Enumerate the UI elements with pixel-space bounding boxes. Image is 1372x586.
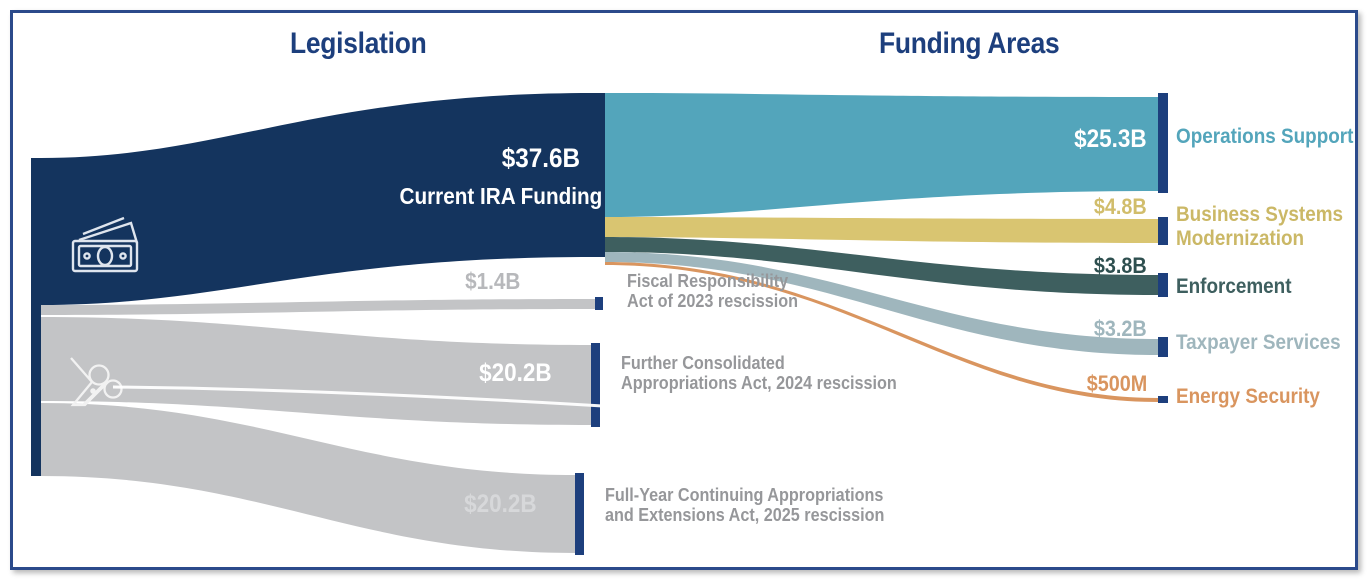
enf-value: $3.8B — [1094, 253, 1147, 279]
fcaa2024-node-bar[interactable] — [591, 343, 600, 427]
bsm-node-bar[interactable] — [1158, 217, 1168, 245]
flow-ira-to-ops[interactable] — [605, 93, 1158, 217]
ira-label: Current IRA Funding — [399, 183, 602, 210]
fycaea2025-label-line1: Full-Year Continuing Appropriations — [605, 485, 884, 505]
fra2023-label: Fiscal Responsibility Act of 2023 rescis… — [627, 271, 798, 311]
flow-total-to-fycaea2025[interactable] — [41, 403, 575, 553]
fcaa2024-label-line2: Appropriations Act, 2024 rescission — [621, 373, 897, 393]
tax-node-bar[interactable] — [1158, 337, 1168, 357]
energy-node-bar[interactable] — [1158, 396, 1168, 403]
tax-value: $3.2B — [1094, 316, 1147, 342]
fycaea2025-label: Full-Year Continuing Appropriations and … — [605, 485, 884, 525]
energy-label: Energy Security — [1176, 385, 1320, 409]
bsm-label-line2: Modernization — [1176, 227, 1343, 251]
fra2023-label-line1: Fiscal Responsibility — [627, 271, 798, 291]
fra2023-label-line2: Act of 2023 rescission — [627, 291, 798, 311]
bsm-label-line1: Business Systems — [1176, 203, 1343, 227]
tax-label: Taxpayer Services — [1176, 331, 1341, 355]
fra2023-node-bar[interactable] — [595, 297, 603, 310]
bsm-label: Business Systems Modernization — [1176, 203, 1343, 250]
diagram-frame: Legislation Funding Areas $37.6B Current… — [10, 10, 1358, 570]
ops-node-bar[interactable] — [1158, 93, 1168, 193]
ops-label: Operations Support — [1176, 125, 1353, 149]
fycaea2025-node-bar[interactable] — [575, 473, 584, 555]
sankey-stage: Legislation Funding Areas $37.6B Current… — [13, 13, 1355, 567]
energy-value: $500M — [1086, 371, 1147, 397]
enf-node-bar[interactable] — [1158, 273, 1168, 297]
bsm-value: $4.8B — [1094, 194, 1147, 220]
fcaa2024-label: Further Consolidated Appropriations Act,… — [621, 353, 897, 393]
fycaea2025-value: $20.2B — [464, 490, 537, 519]
ira-node-bar[interactable] — [593, 93, 605, 257]
ira-value: $37.6B — [502, 143, 580, 174]
source-node-bar[interactable] — [31, 158, 41, 476]
fcaa2024-value: $20.2B — [479, 359, 552, 388]
ops-value: $25.3B — [1074, 125, 1147, 154]
enf-label: Enforcement — [1176, 275, 1292, 299]
fycaea2025-label-line2: and Extensions Act, 2025 rescission — [605, 505, 884, 525]
fcaa2024-label-line1: Further Consolidated — [621, 353, 897, 373]
fra2023-value: $1.4B — [465, 268, 520, 295]
funding-areas-header: Funding Areas — [879, 27, 1059, 61]
legislation-header: Legislation — [290, 27, 426, 61]
